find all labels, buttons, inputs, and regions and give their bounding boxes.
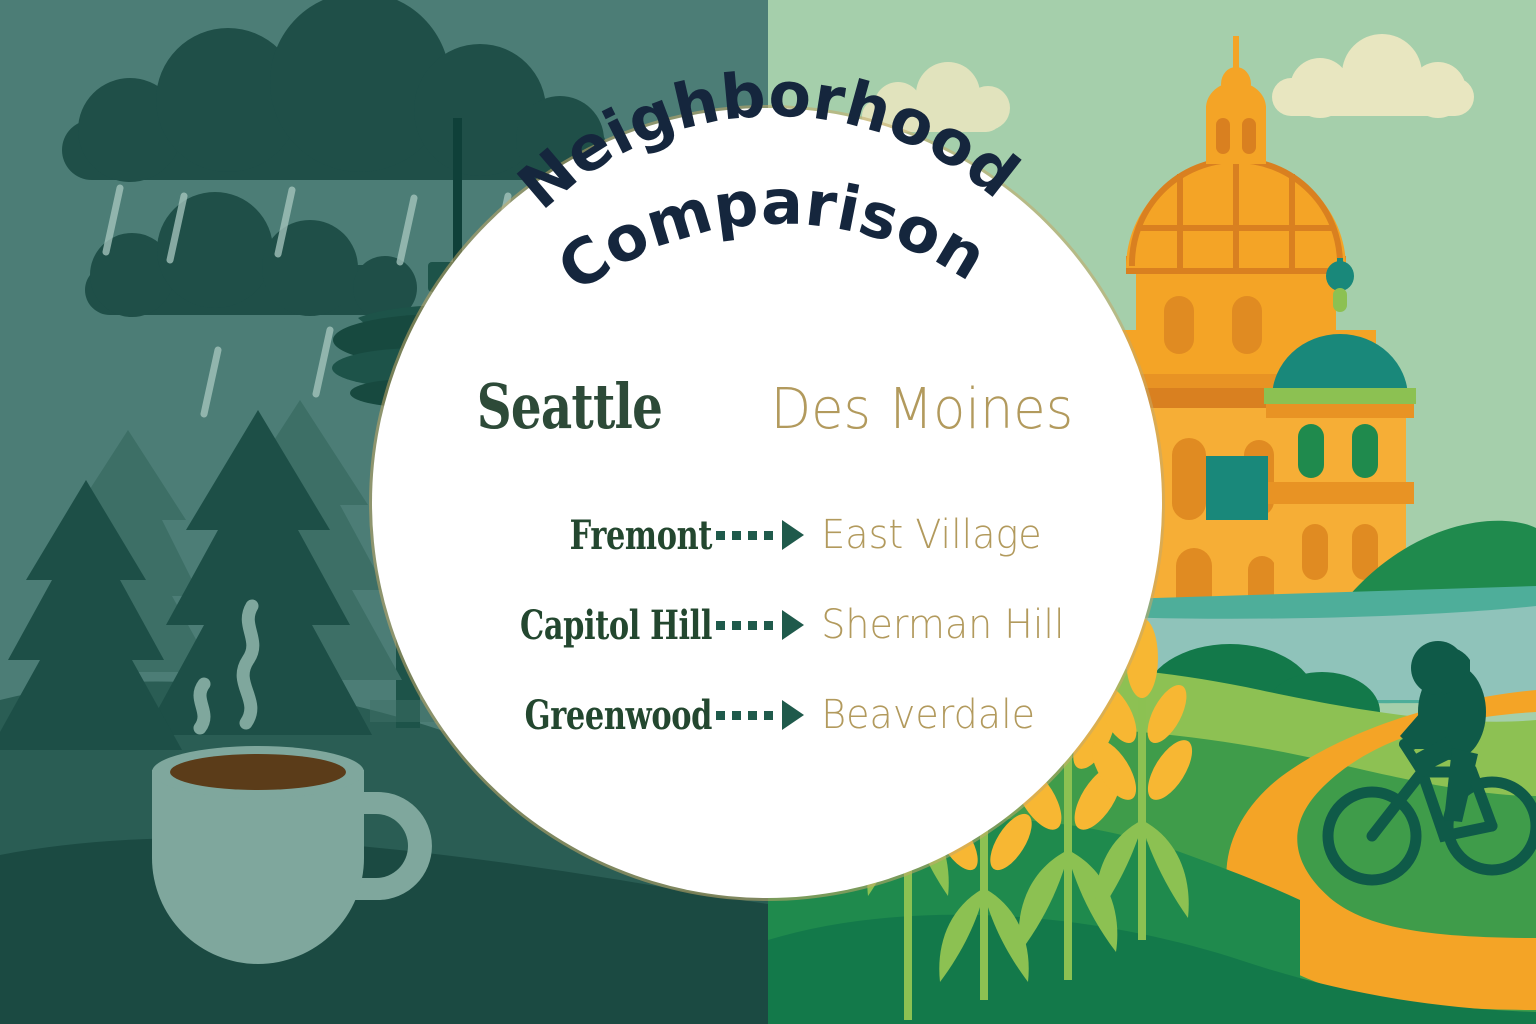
infographic-canvas: Neighborhood Comparison Seattle Des Moin… — [0, 0, 1536, 1024]
dotted-arrow-right-icon — [712, 610, 808, 640]
city-header-row: Seattle Des Moines — [372, 370, 1162, 443]
city-name-right: Des Moines — [726, 377, 1149, 442]
neighborhood-left: Fremont — [454, 512, 712, 559]
neighborhood-right: Sherman Hill — [808, 602, 1144, 648]
neighborhood-pair-row[interactable]: Greenwood Beaverdale — [372, 670, 1162, 760]
dotted-arrow-right-icon — [712, 520, 808, 550]
neighborhood-pair-list: Fremont East Village Capitol Hill Sherma… — [372, 490, 1162, 760]
neighborhood-left: Greenwood — [454, 692, 712, 739]
neighborhood-right: Beaverdale — [808, 692, 1144, 738]
neighborhood-pair-row[interactable]: Fremont East Village — [372, 490, 1162, 580]
title-line-2: Comparison — [545, 166, 1000, 306]
neighborhood-right: East Village — [808, 512, 1144, 558]
dotted-arrow-right-icon — [712, 700, 808, 730]
city-name-left: Seattle — [409, 370, 674, 443]
neighborhood-pair-row[interactable]: Capitol Hill Sherman Hill — [372, 580, 1162, 670]
neighborhood-left: Capitol Hill — [454, 602, 712, 649]
